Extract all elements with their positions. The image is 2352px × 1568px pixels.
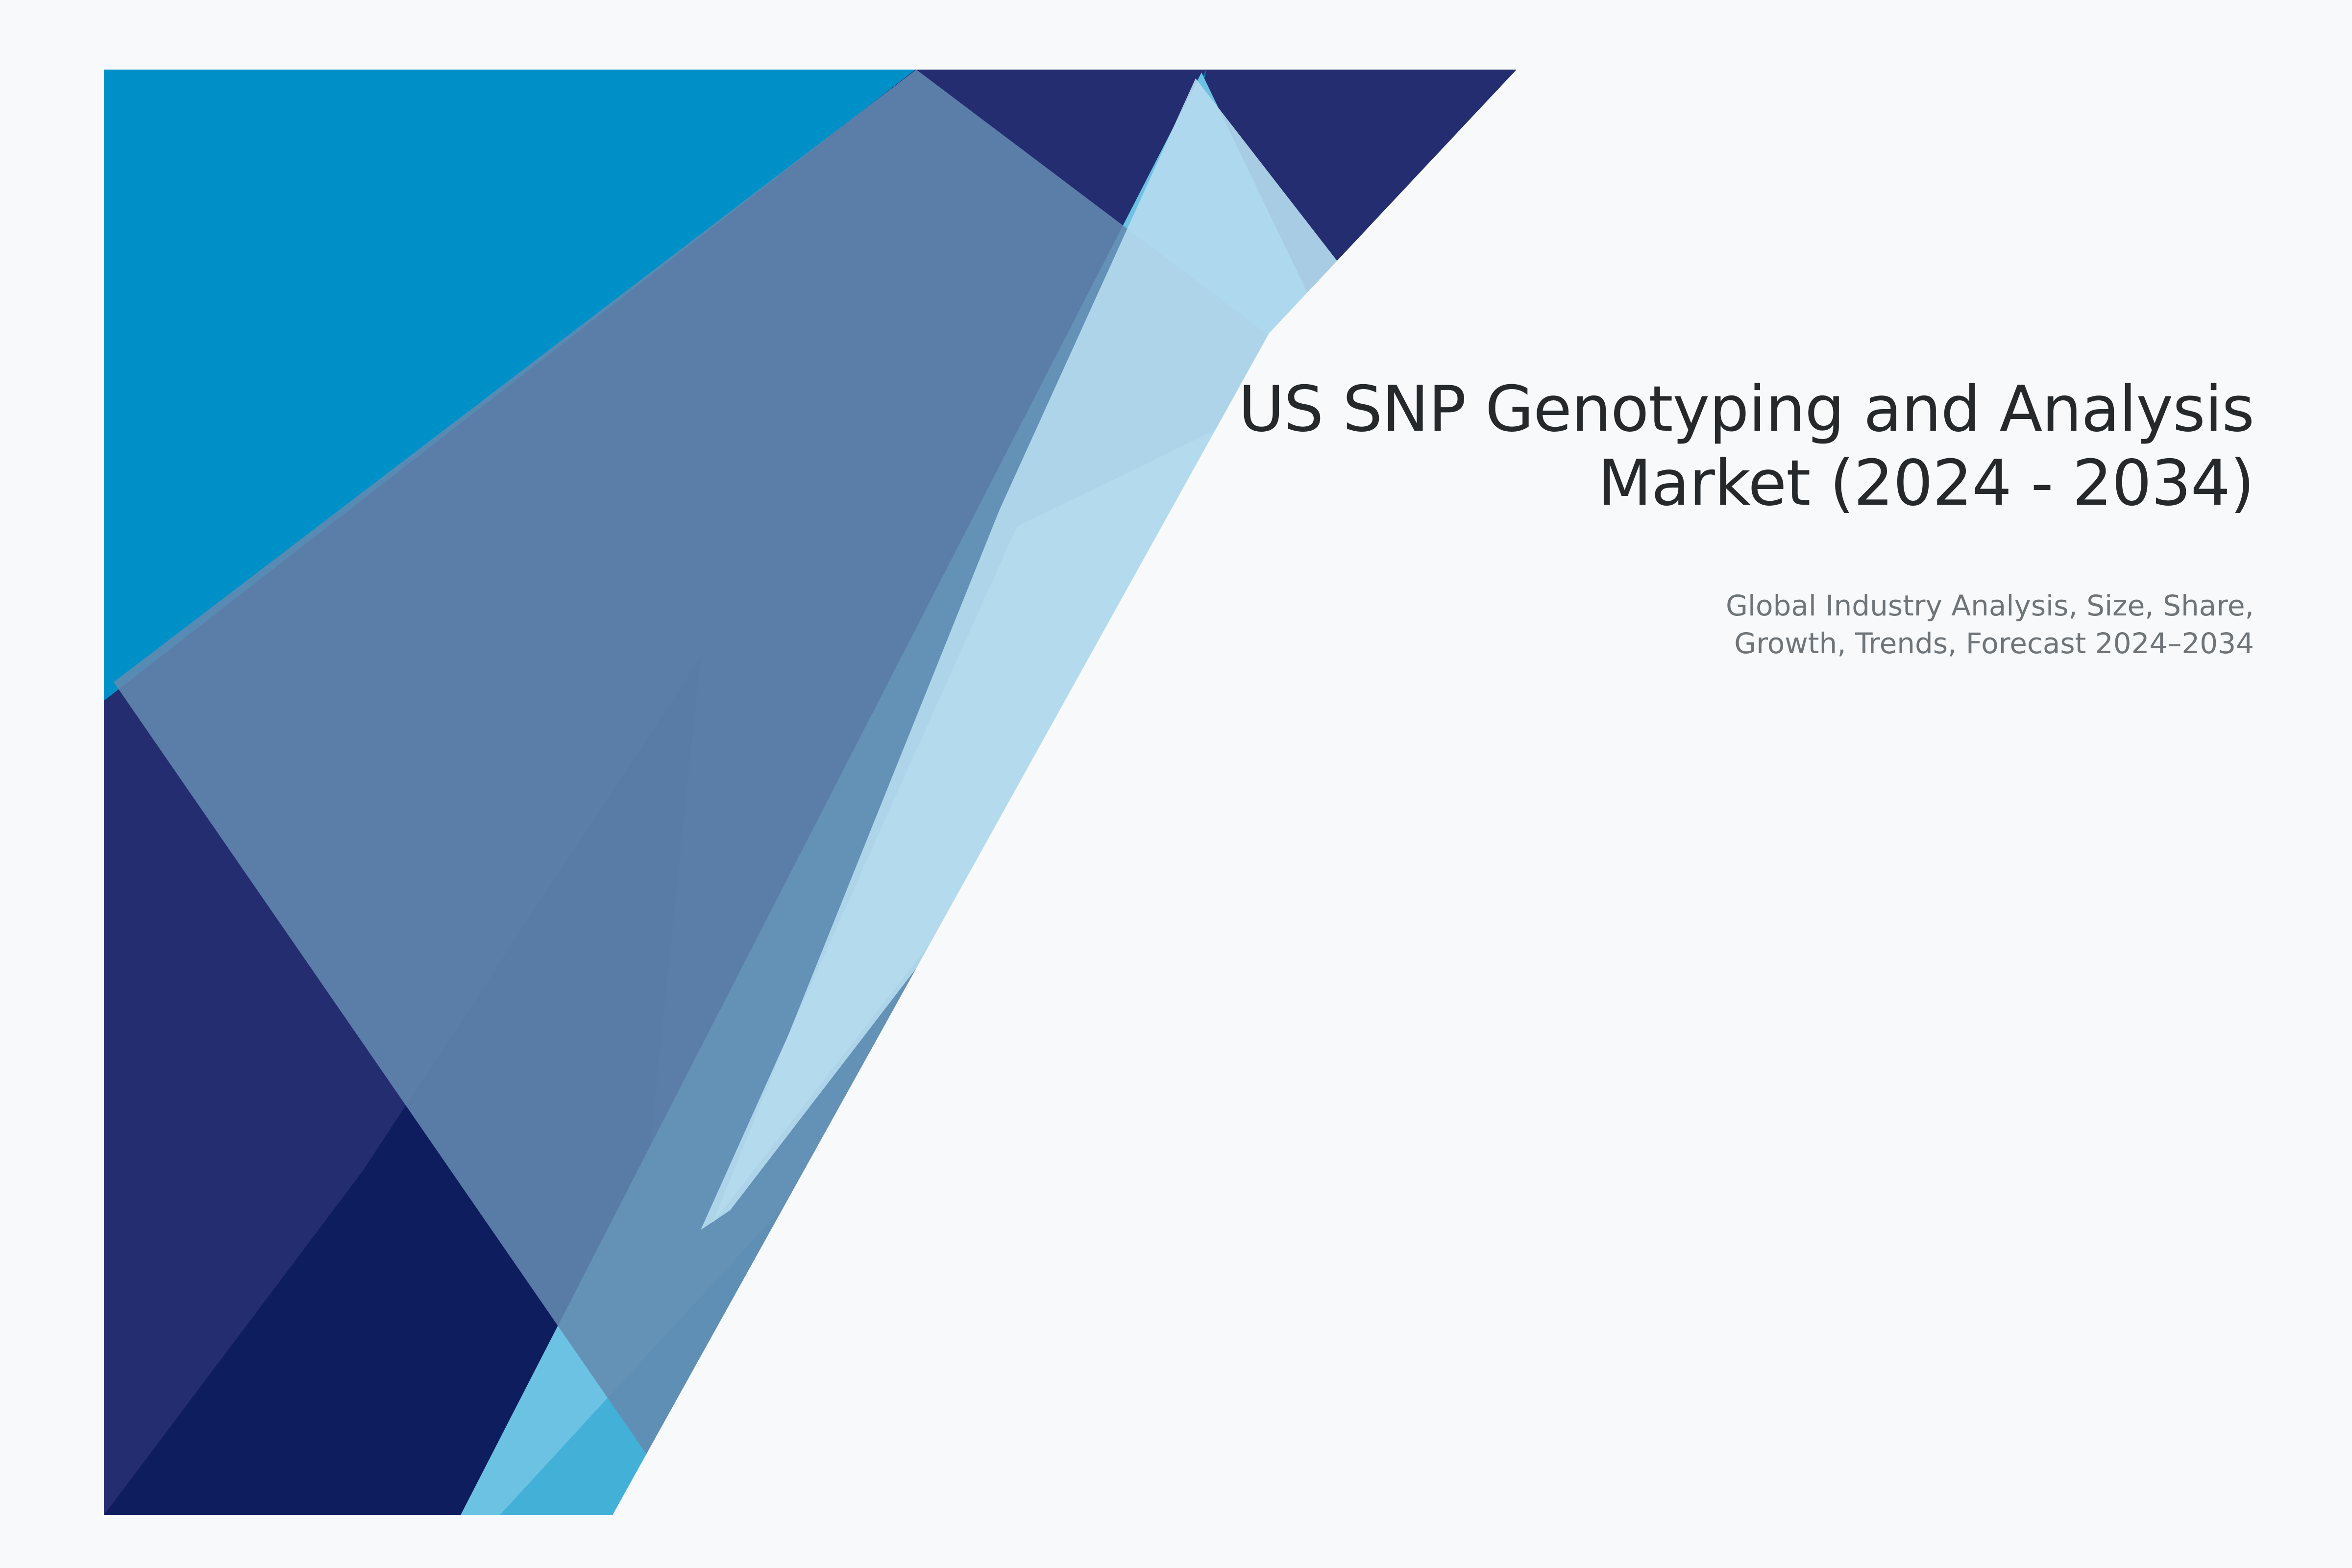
mask-right-diagonal bbox=[612, 70, 2352, 1515]
mask-left bbox=[0, 0, 104, 1568]
page-title: US SNP Genotyping and Analysis Market (2… bbox=[1004, 372, 2254, 520]
page-subtitle: Global Industry Analysis, Size, Share, G… bbox=[1004, 520, 2254, 662]
report-cover: US SNP Genotyping and Analysis Market (2… bbox=[0, 0, 2352, 1568]
mask-top bbox=[0, 0, 2352, 70]
mask-bottom bbox=[0, 1515, 2352, 1568]
artwork-frame-mask bbox=[0, 0, 2352, 1568]
cover-text-block: US SNP Genotyping and Analysis Market (2… bbox=[1004, 372, 2254, 662]
